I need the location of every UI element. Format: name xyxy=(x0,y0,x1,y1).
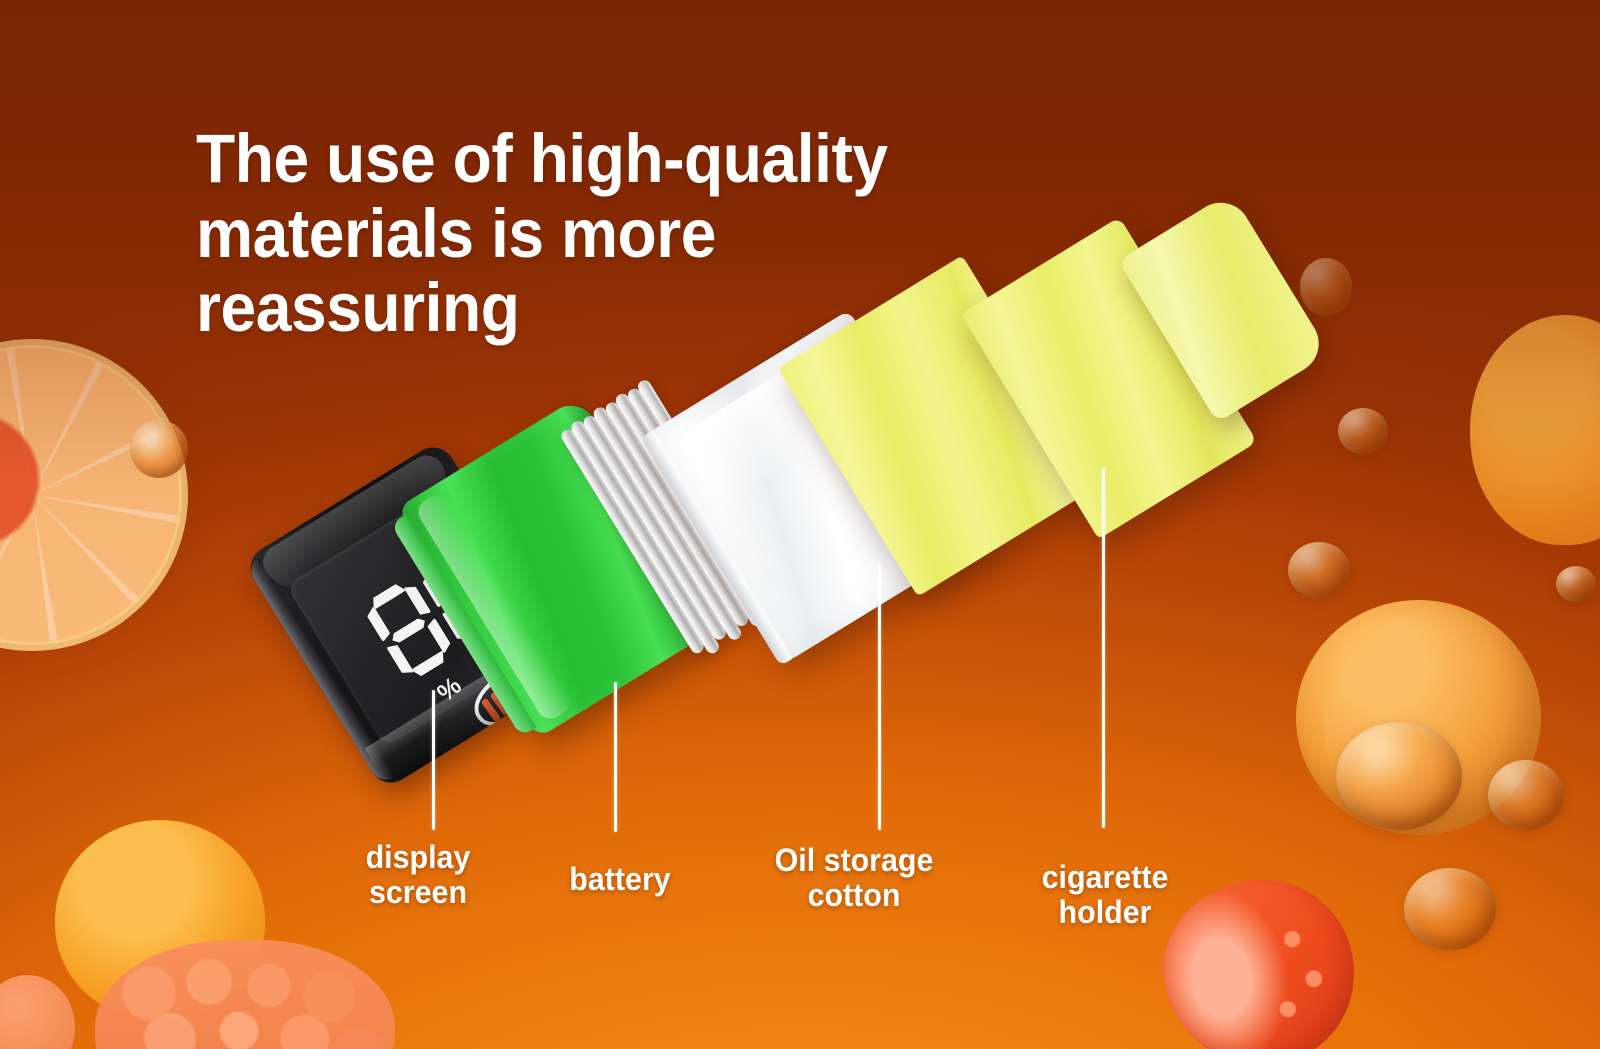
water-droplet-decoration xyxy=(130,420,188,478)
screen-glass-panel: % xyxy=(286,487,546,747)
water-bubble-decoration xyxy=(1300,258,1352,316)
screen-bezel-edge xyxy=(246,557,394,785)
percent-symbol: % xyxy=(432,672,468,708)
battery-percent-digits xyxy=(360,542,513,685)
whole-orange-decoration xyxy=(1296,600,1541,835)
water-bubble-decoration xyxy=(1556,566,1596,602)
display-screen-part: % xyxy=(243,439,582,790)
leader-line xyxy=(1102,468,1105,828)
mango-decoration xyxy=(1470,315,1600,545)
screen-lower-bevel xyxy=(365,630,582,787)
product-feature-banner: The use of high-quality materials is mor… xyxy=(0,0,1600,1049)
orange-slice-decoration xyxy=(0,345,182,645)
seven-segment-digit-1 xyxy=(360,576,458,685)
callout-label-battery: battery xyxy=(525,862,715,897)
tank-lip xyxy=(641,430,793,666)
battery-part xyxy=(397,396,721,738)
seven-segment-digit-2 xyxy=(415,542,513,651)
mouthpiece-tip-part xyxy=(1118,192,1330,423)
page-title: The use of high-quality materials is mor… xyxy=(196,122,959,346)
lightning-bolt-icon xyxy=(468,611,507,652)
callout-label-display-screen: display screen xyxy=(323,840,513,910)
water-bubble-decoration xyxy=(1336,722,1462,830)
leader-line xyxy=(878,562,881,830)
leader-line xyxy=(432,690,435,830)
peach-decoration xyxy=(55,820,265,1020)
cigarette-holder-body-part xyxy=(961,217,1258,539)
oil-storage-cotton-part xyxy=(647,310,988,662)
battery-end-cap xyxy=(391,514,537,737)
thread-rings-part xyxy=(558,372,798,663)
raspberry-decoration xyxy=(95,940,395,1049)
leader-line xyxy=(614,682,617,832)
orange-slice-rim xyxy=(0,339,188,651)
screen-gloss-highlight xyxy=(257,449,460,601)
water-bubble-decoration xyxy=(1404,868,1496,950)
callout-label-oil-storage-cotton: Oil storage cotton xyxy=(746,843,963,913)
water-bubble-decoration xyxy=(1488,760,1564,830)
water-bubble-decoration xyxy=(1288,542,1350,598)
oil-level-gauge-icon xyxy=(464,657,551,737)
water-bubble-decoration xyxy=(1338,408,1388,454)
callout-label-cigarette-holder: cigarette holder xyxy=(1005,860,1205,930)
raspberry-small-decoration xyxy=(0,975,75,1049)
